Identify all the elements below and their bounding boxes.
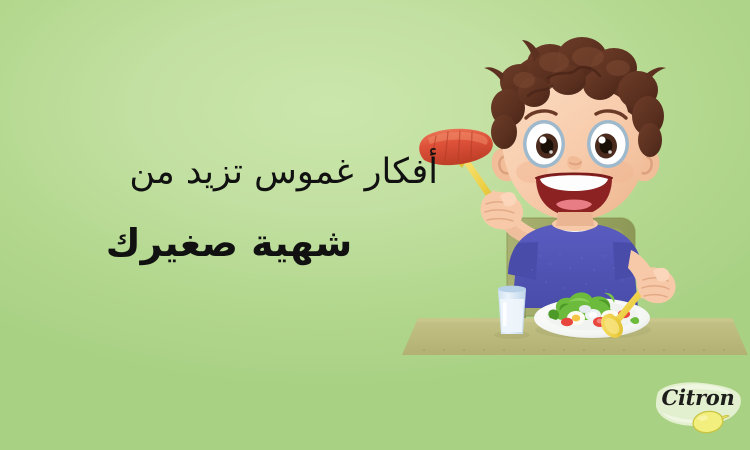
poster-canvas: أفكار غموس تزيد من شهية صغيرك Citron — [0, 0, 750, 450]
headline-line-1: أفكار غموس تزيد من — [14, 153, 438, 192]
brand-logo[interactable]: Citron — [650, 372, 746, 444]
headline-line-2: شهية صغيرك — [54, 222, 404, 265]
logo-wordmark: Citron — [656, 385, 740, 410]
boy-neck — [556, 212, 594, 226]
boy-left-hand — [481, 192, 523, 230]
